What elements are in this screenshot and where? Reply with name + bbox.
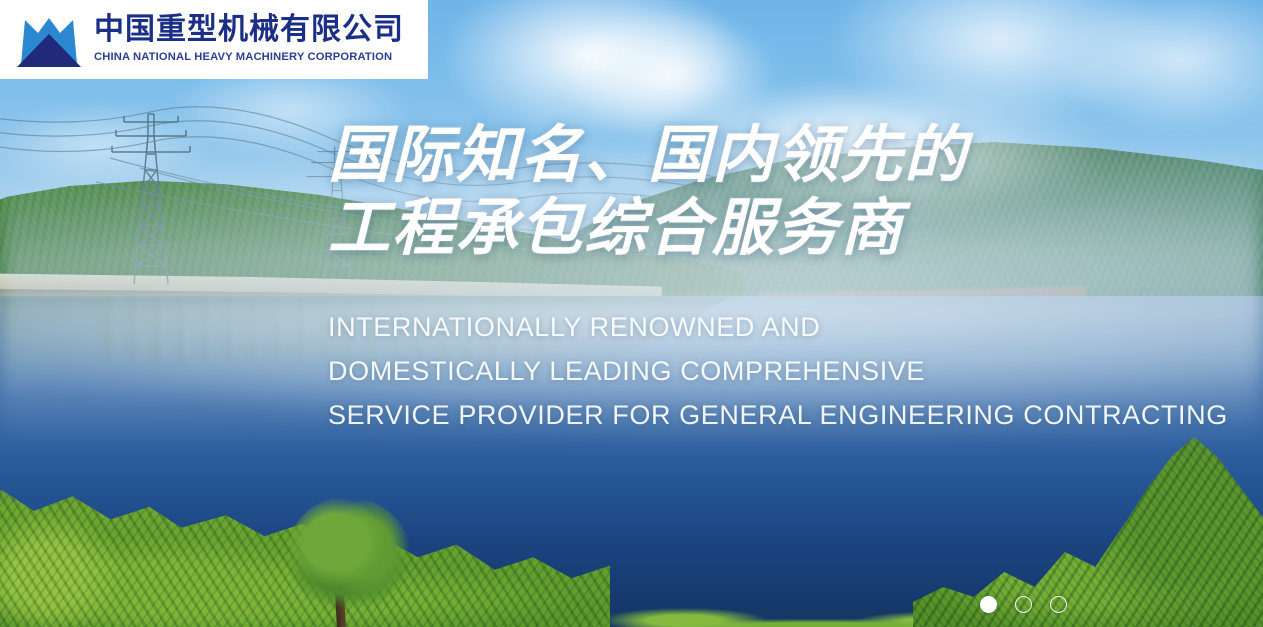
company-name-cn: 中国重型机械有限公司 [94,15,404,45]
subheadline-line-1: INTERNATIONALLY RENOWNED AND [328,306,1228,350]
subheadline-line-2: DOMESTICALLY LEADING COMPREHENSIVE [328,350,1228,394]
company-name-en: CHINA NATIONAL HEAVY MACHINERY CORPORATI… [94,52,404,63]
subheadline-line-3: SERVICE PROVIDER FOR GENERAL ENGINEERING… [328,394,1228,438]
company-logo-plate[interactable]: 中国重型机械有限公司 CHINA NATIONAL HEAVY MACHINER… [0,0,428,79]
headline-line-2: 工程承包综合服务商 [328,191,1228,264]
cnhmc-mountain-logo-icon [12,10,86,70]
hero-banner: 中国重型机械有限公司 CHINA NATIONAL HEAVY MACHINER… [0,0,1263,627]
carousel-dot-2[interactable] [1015,596,1032,613]
foreground-tree [286,497,410,609]
carousel-dot-3[interactable] [1050,596,1067,613]
carousel-dots[interactable] [980,596,1067,613]
headline: 国际知名、国内领先的 工程承包综合服务商 [328,118,1228,264]
headline-line-1: 国际知名、国内领先的 [328,118,968,191]
subheadline: INTERNATIONALLY RENOWNED AND DOMESTICALL… [328,306,1228,437]
hero-copy: 国际知名、国内领先的 工程承包综合服务商 INTERNATIONALLY REN… [328,118,1228,438]
carousel-dot-1[interactable] [980,596,997,613]
company-logo-text: 中国重型机械有限公司 CHINA NATIONAL HEAVY MACHINER… [94,15,404,63]
